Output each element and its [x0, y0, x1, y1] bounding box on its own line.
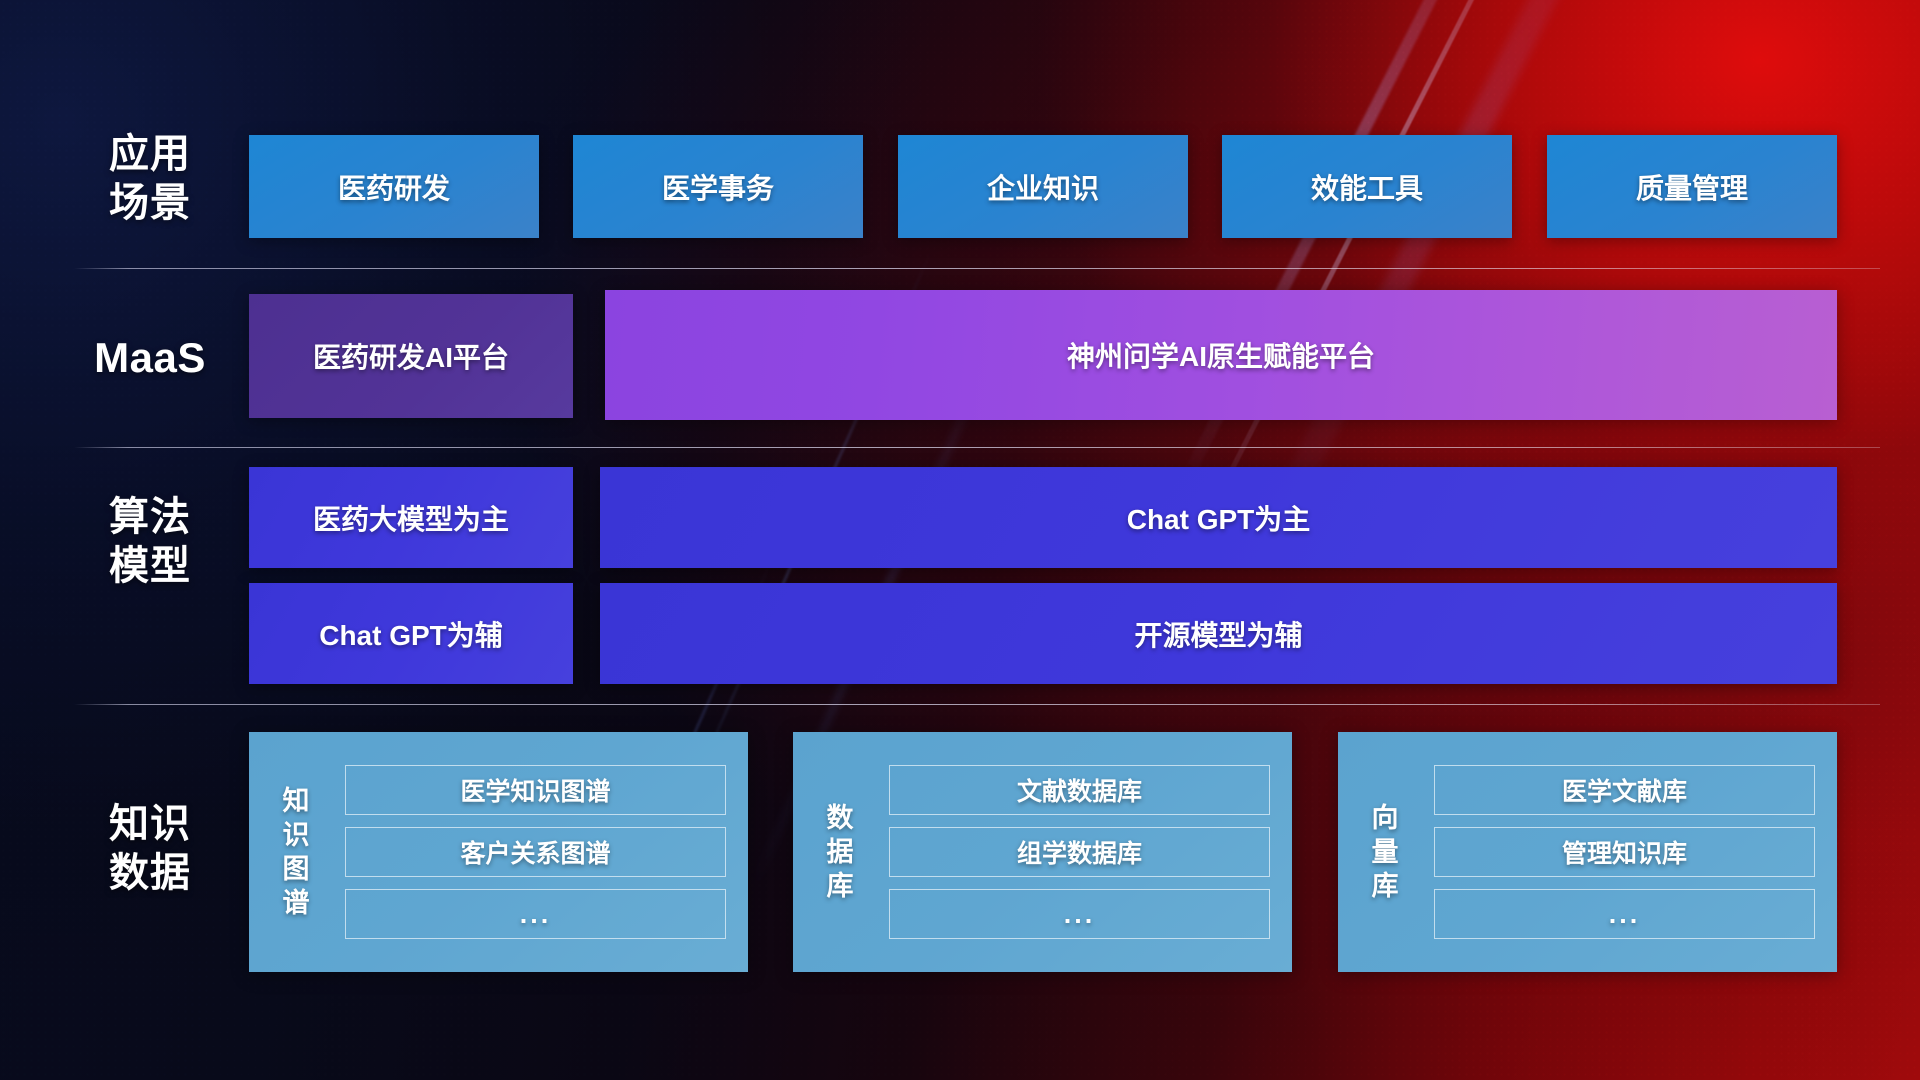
title-char: 图: [263, 852, 329, 886]
row-label-knowledge-data: 知识 数据: [55, 800, 245, 898]
title-char: 库: [807, 869, 873, 903]
knowledge-items-list: 文献数据库 组学数据库 ...: [873, 747, 1292, 957]
row-label-line2: 场景: [55, 179, 245, 228]
scenario-box-medicine-rd[interactable]: 医药研发: [249, 135, 539, 238]
row-divider-3: [74, 704, 1880, 705]
knowledge-group-title-knowledge-graph: 知 识 图 谱: [263, 784, 329, 920]
title-char: 量: [1352, 835, 1418, 869]
row-divider-2: [74, 447, 1880, 448]
knowledge-group-vector-store[interactable]: 向 量 库 医学文献库 管理知识库 ...: [1338, 732, 1837, 972]
row-label-line2: 模型: [55, 542, 245, 591]
knowledge-item-literature-database[interactable]: 文献数据库: [889, 765, 1270, 815]
knowledge-item-medical-knowledge-graph[interactable]: 医学知识图谱: [345, 765, 726, 815]
knowledge-item-more[interactable]: ...: [345, 889, 726, 939]
knowledge-item-medical-literature-store[interactable]: 医学文献库: [1434, 765, 1815, 815]
knowledge-group-title-database: 数 据 库: [807, 801, 873, 903]
knowledge-item-more[interactable]: ...: [889, 889, 1270, 939]
algo-box-chatgpt-secondary[interactable]: Chat GPT为辅: [249, 583, 573, 684]
algo-box-medicine-llm-primary[interactable]: 医药大模型为主: [249, 467, 573, 568]
row-divider-1: [74, 268, 1880, 269]
row-label-algorithm-models: 算法 模型: [55, 493, 245, 591]
light-streak-icon: [1206, 0, 1565, 517]
row-label-line2: 数据: [55, 849, 245, 898]
algo-box-chatgpt-primary[interactable]: Chat GPT为主: [600, 467, 1837, 568]
scenario-box-medical-affairs[interactable]: 医学事务: [573, 135, 863, 238]
maas-box-shenzhou-wenxue-platform[interactable]: 神州问学AI原生赋能平台: [605, 290, 1837, 420]
title-char: 谱: [263, 886, 329, 920]
row-label-maas: MaaS: [55, 333, 245, 382]
diagram-canvas: 应用 场景 医药研发 医学事务 企业知识 效能工具 质量管理 MaaS 医药研发…: [0, 0, 1920, 1080]
knowledge-item-omics-database[interactable]: 组学数据库: [889, 827, 1270, 877]
title-char: 识: [263, 818, 329, 852]
knowledge-item-customer-relation-graph[interactable]: 客户关系图谱: [345, 827, 726, 877]
knowledge-group-knowledge-graph[interactable]: 知 识 图 谱 医学知识图谱 客户关系图谱 ...: [249, 732, 748, 972]
maas-box-medicine-rd-ai-platform[interactable]: 医药研发AI平台: [249, 294, 573, 418]
scenario-box-enterprise-knowledge[interactable]: 企业知识: [898, 135, 1188, 238]
title-char: 向: [1352, 801, 1418, 835]
row-label-application-scenarios: 应用 场景: [55, 130, 245, 228]
title-char: 库: [1352, 869, 1418, 903]
scenario-box-quality-management[interactable]: 质量管理: [1547, 135, 1837, 238]
knowledge-item-management-knowledge-store[interactable]: 管理知识库: [1434, 827, 1815, 877]
knowledge-items-list: 医学知识图谱 客户关系图谱 ...: [329, 747, 748, 957]
knowledge-group-database[interactable]: 数 据 库 文献数据库 组学数据库 ...: [793, 732, 1292, 972]
algo-box-opensource-secondary[interactable]: 开源模型为辅: [600, 583, 1837, 684]
knowledge-group-title-vector-store: 向 量 库: [1352, 801, 1418, 903]
row-label-line1: 算法: [55, 493, 245, 542]
title-char: 知: [263, 784, 329, 818]
title-char: 据: [807, 835, 873, 869]
knowledge-item-more[interactable]: ...: [1434, 889, 1815, 939]
row-label-line1: 知识: [55, 800, 245, 849]
row-label-line1: 应用: [55, 130, 245, 179]
knowledge-items-list: 医学文献库 管理知识库 ...: [1418, 747, 1837, 957]
title-char: 数: [807, 801, 873, 835]
scenario-box-efficiency-tools[interactable]: 效能工具: [1222, 135, 1512, 238]
